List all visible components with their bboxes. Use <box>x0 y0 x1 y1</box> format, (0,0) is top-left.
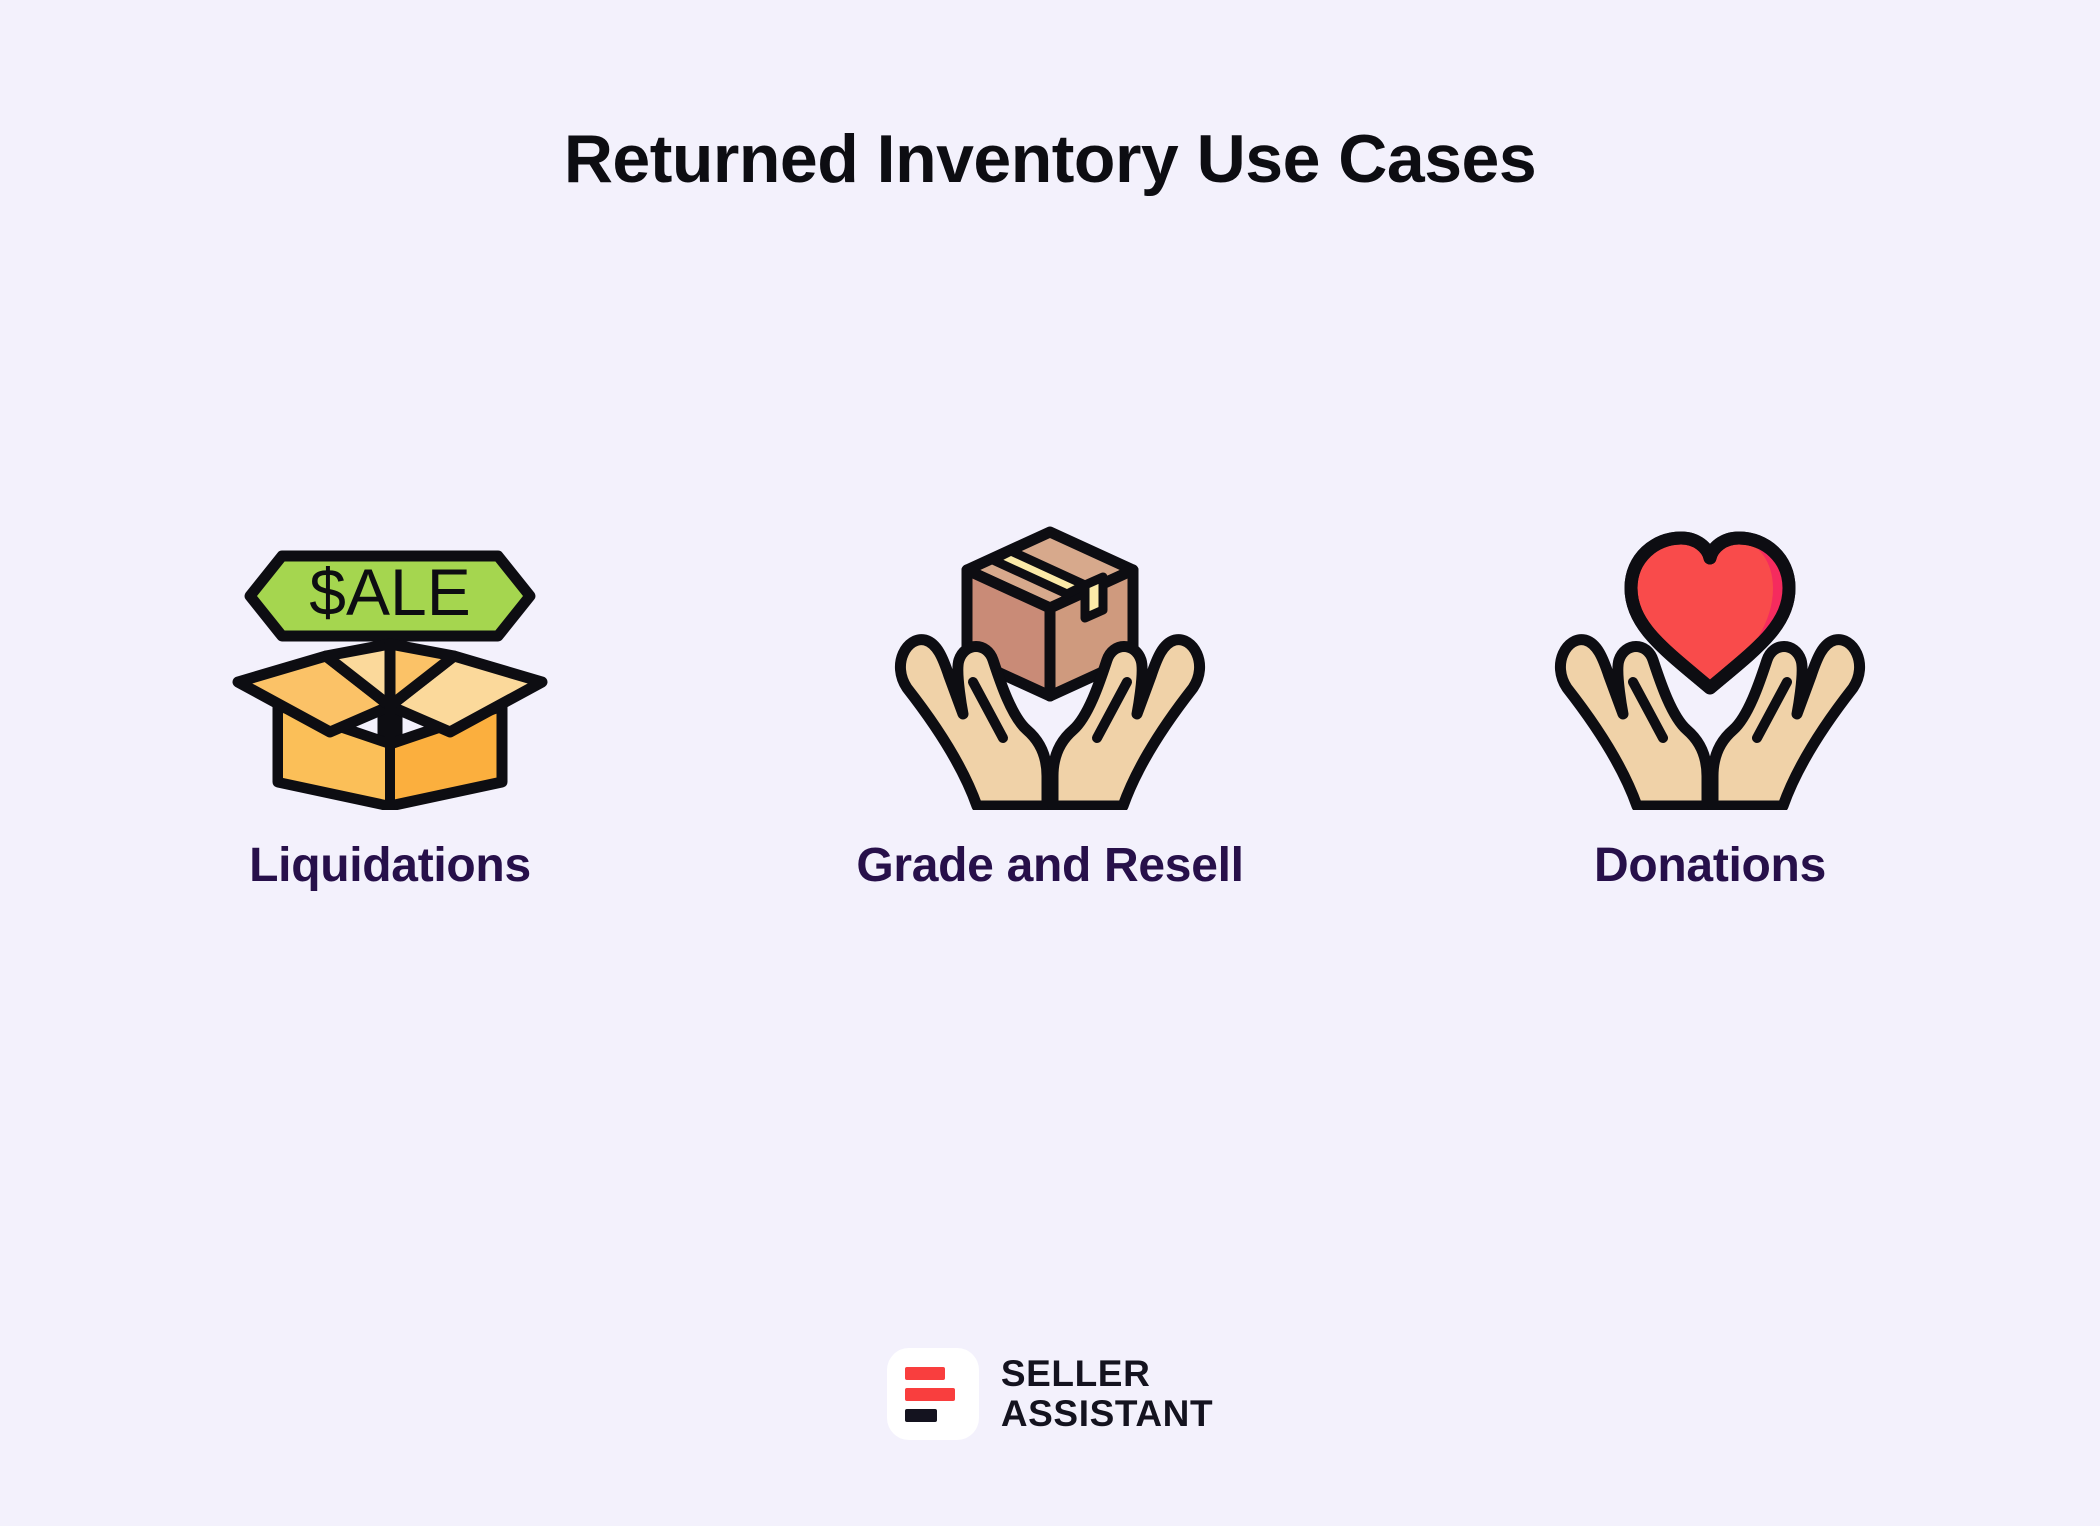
icon-wrap-grade-and-resell <box>885 470 1215 810</box>
hands-holding-heart-icon <box>1545 510 1875 810</box>
infographic-page: Returned Inventory Use Cases $ALE <box>0 0 2100 1526</box>
seller-assistant-logo-icon <box>887 1348 979 1440</box>
hands-holding-package-icon <box>885 510 1215 810</box>
card-label-grade-and-resell: Grade and Resell <box>856 838 1243 893</box>
brand-name-line1: SELLER <box>1001 1354 1213 1394</box>
logo-bar-bottom <box>905 1409 937 1422</box>
card-label-liquidations: Liquidations <box>249 838 531 893</box>
card-label-donations: Donations <box>1594 838 1826 893</box>
logo-bar-top <box>905 1367 945 1380</box>
card-donations: Donations <box>1380 470 2040 893</box>
brand-name: SELLER ASSISTANT <box>1001 1354 1213 1434</box>
use-case-cards: $ALE Liquidations <box>0 470 2100 893</box>
logo-bar-middle <box>905 1388 955 1401</box>
brand-footer: SELLER ASSISTANT <box>0 1348 2100 1440</box>
page-title: Returned Inventory Use Cases <box>0 122 2100 197</box>
icon-wrap-liquidations: $ALE <box>230 470 550 810</box>
icon-wrap-donations <box>1545 470 1875 810</box>
brand-name-line2: ASSISTANT <box>1001 1394 1213 1434</box>
sale-sign-open-box-icon: $ALE <box>230 510 550 810</box>
card-liquidations: $ALE Liquidations <box>60 470 720 893</box>
card-grade-and-resell: Grade and Resell <box>720 470 1380 893</box>
sale-sign-text: $ALE <box>309 555 470 629</box>
